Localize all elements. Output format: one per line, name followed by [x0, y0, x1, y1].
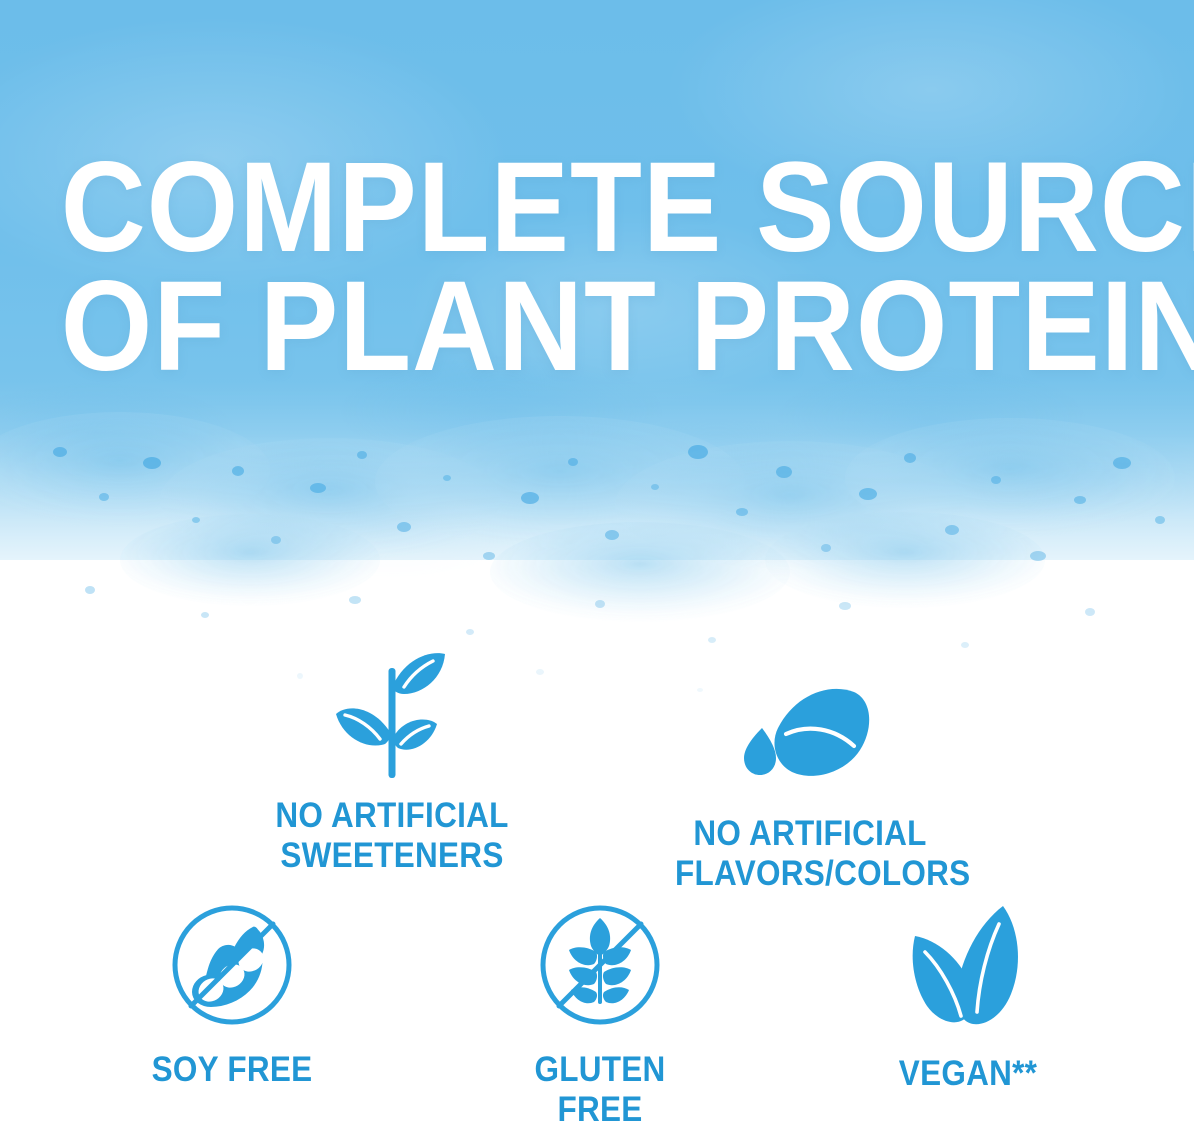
caption-line-1: VEGAN**: [833, 1054, 1103, 1094]
benefit-caption: NO ARTIFICIAL FLAVORS/COLORS: [675, 814, 945, 894]
leaf-droplet-icon: [660, 648, 960, 798]
benefit-caption: SOY FREE: [97, 1050, 367, 1090]
benefit-soy-free: SOY FREE: [82, 888, 382, 1090]
benefit-no-artificial-sweeteners: NO ARTIFICIAL SWEETENERS: [242, 630, 542, 876]
headline-line-2: OF PLANT PROTEIN.: [61, 267, 1099, 386]
headline-line-1: COMPLETE SOURCE: [61, 148, 1099, 267]
page-title: COMPLETE SOURCE OF PLANT PROTEIN.: [0, 148, 1098, 386]
benefit-vegan: VEGAN**: [818, 892, 1118, 1094]
caption-line-2: FREE: [465, 1090, 735, 1128]
caption-line-1: GLUTEN: [465, 1050, 735, 1090]
double-leaf-icon: [818, 892, 1118, 1032]
no-wheat-icon: [450, 888, 750, 1028]
benefit-caption: VEGAN**: [833, 1054, 1103, 1094]
caption-line-1: SOY FREE: [97, 1050, 367, 1090]
powder-fade-to-white: [0, 380, 1194, 680]
benefit-caption: NO ARTIFICIAL SWEETENERS: [257, 796, 527, 876]
no-soy-icon: [82, 888, 382, 1028]
benefit-gluten-free: GLUTEN FREE: [450, 888, 750, 1128]
caption-line-1: NO ARTIFICIAL: [257, 796, 527, 836]
sprout-icon: [242, 630, 542, 780]
caption-line-2: SWEETENERS: [257, 836, 527, 876]
caption-line-1: NO ARTIFICIAL: [675, 814, 945, 854]
product-benefits-poster: COMPLETE SOURCE OF PLANT PROTEIN.: [0, 0, 1194, 1128]
benefit-no-artificial-flavors-colors: NO ARTIFICIAL FLAVORS/COLORS: [660, 648, 960, 894]
benefit-caption: GLUTEN FREE: [465, 1050, 735, 1128]
